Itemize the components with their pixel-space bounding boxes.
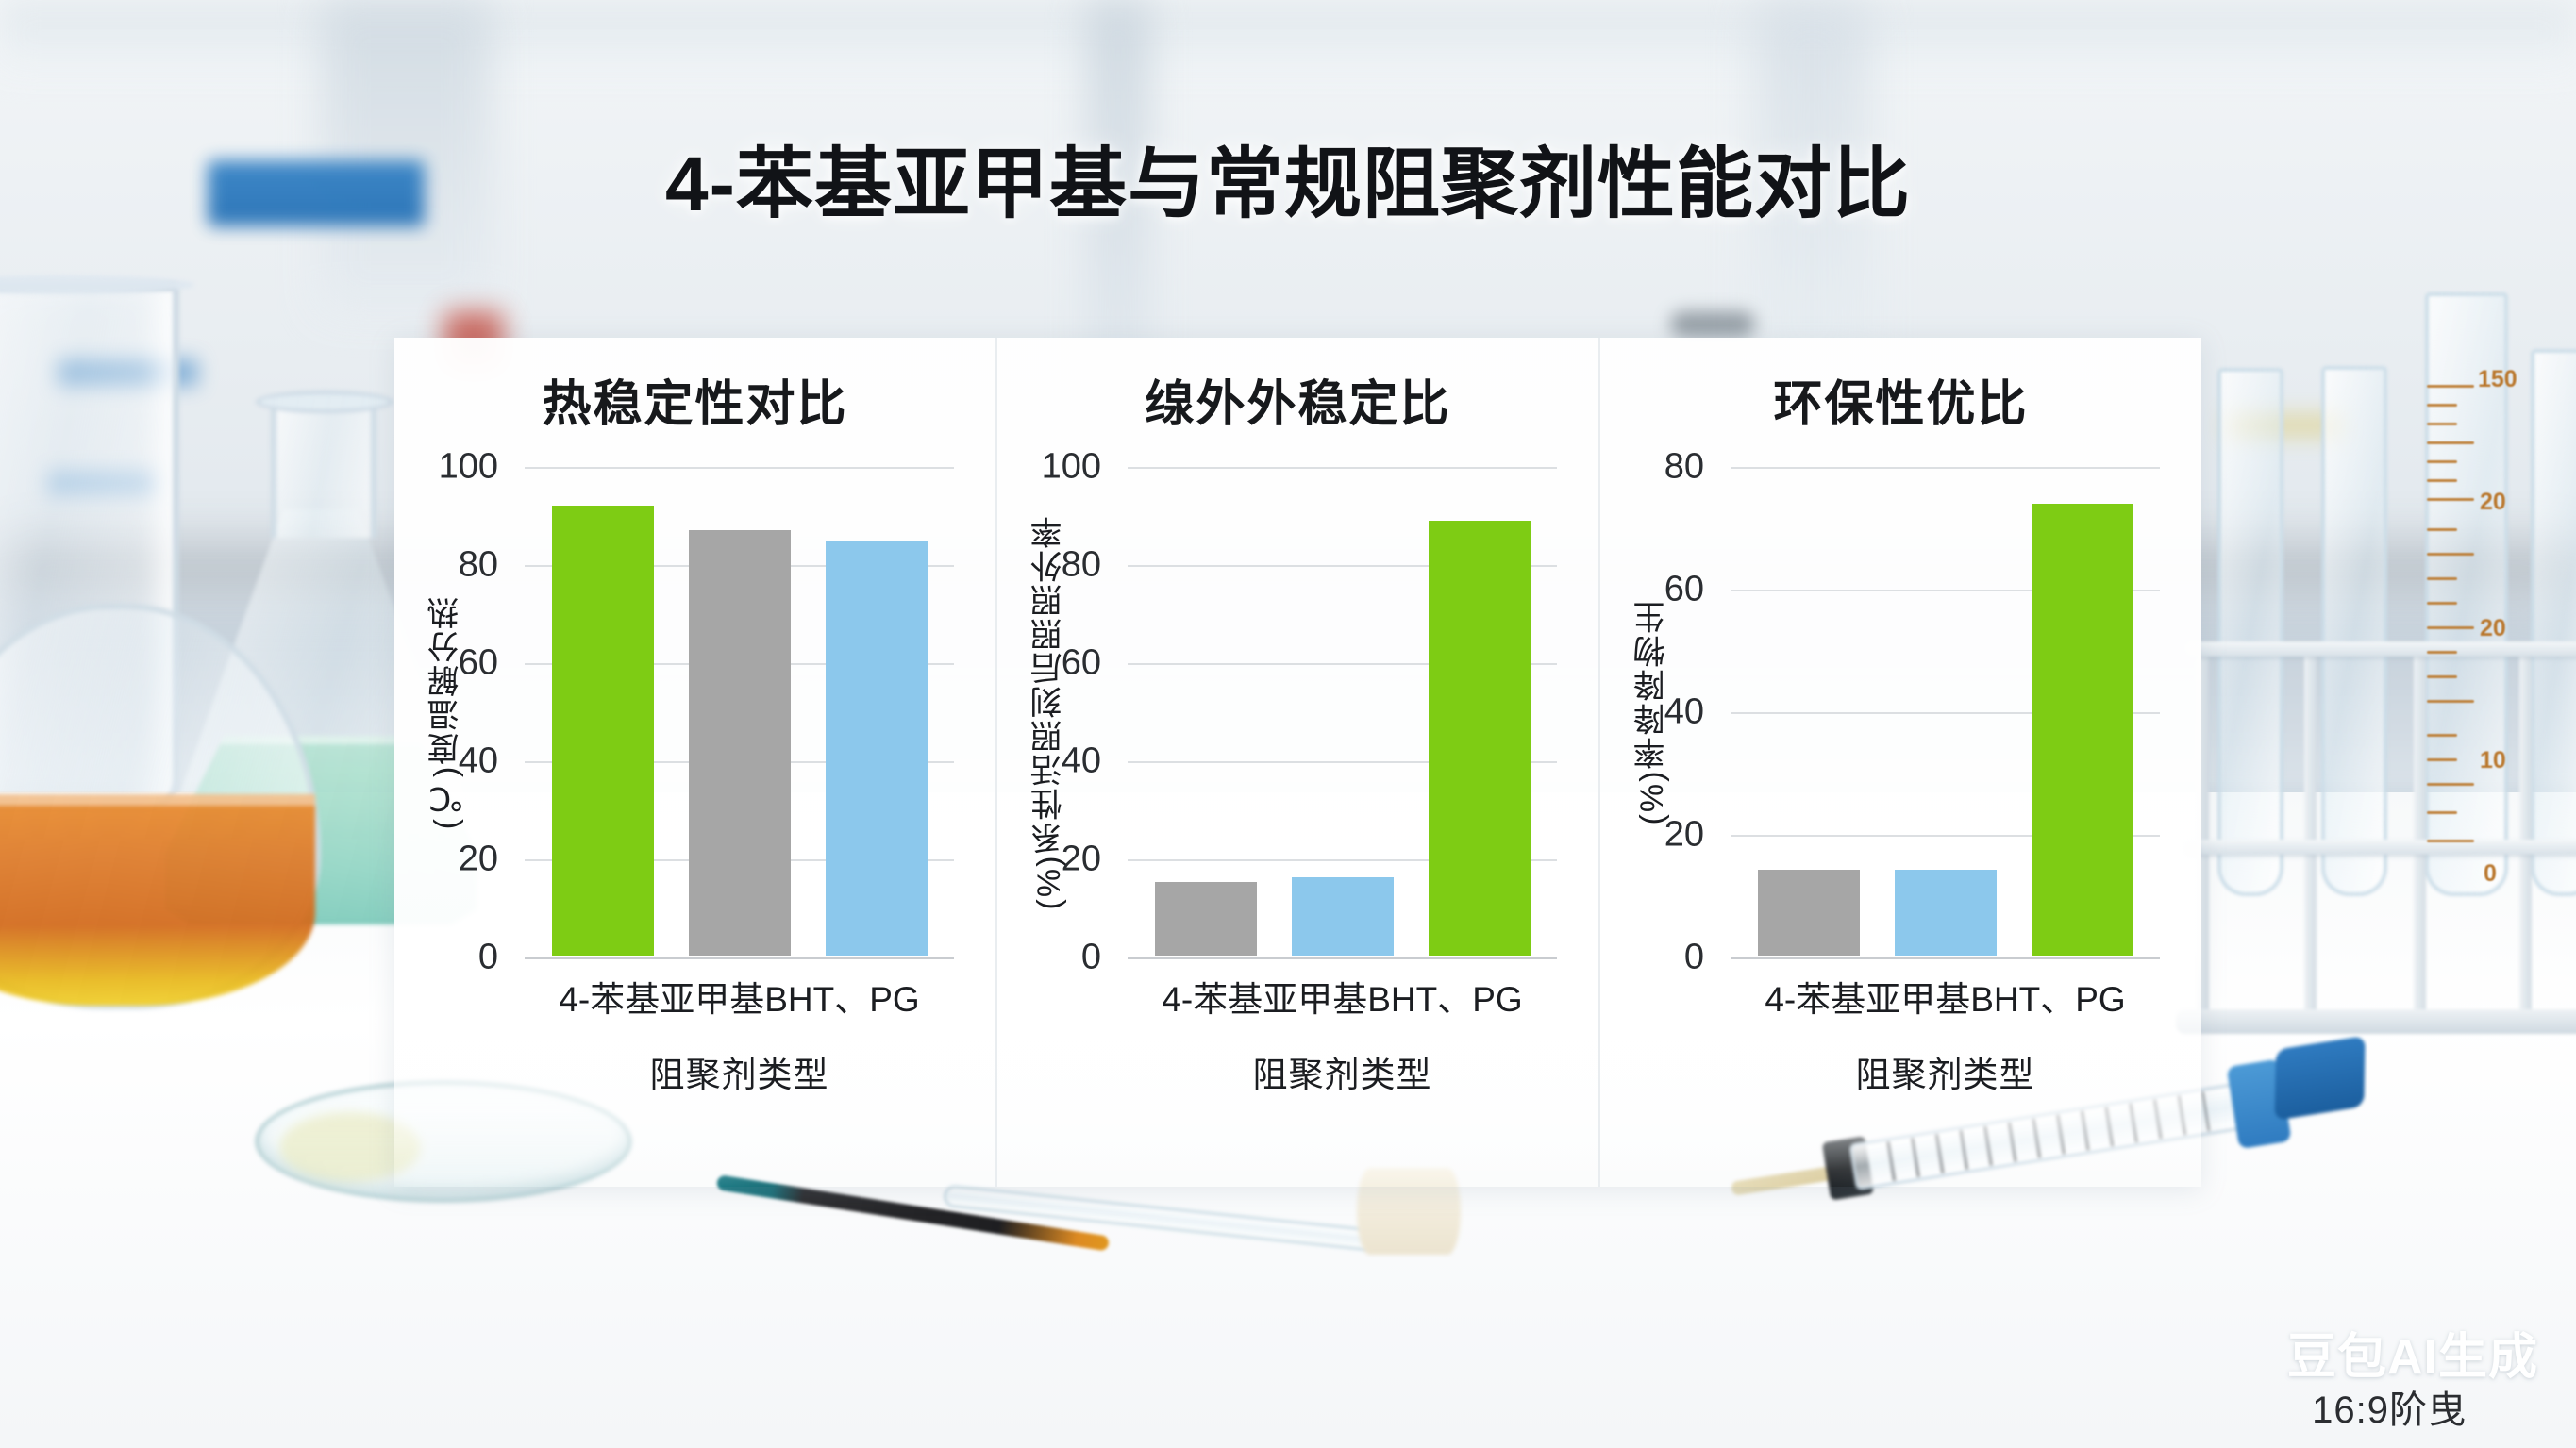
plot-area-2: (%)率降降物生 806040200 (1731, 467, 2160, 957)
plot-area-0: (℃)度温解分热 100806040200 (525, 467, 954, 957)
bar-BHT (689, 530, 791, 956)
cylinder-label-150: 150 (2478, 366, 2517, 393)
x-tick-label-1: 4-苯基亚甲基BHT、PG (1128, 971, 1557, 1022)
cylinder-label-20a: 20 (2480, 489, 2506, 516)
syringe-flange (2275, 1036, 2366, 1121)
rack-leg-2 (2304, 649, 2317, 1026)
chart-title-0: 热稳定性对比 (411, 364, 979, 435)
bar-PG (826, 541, 928, 956)
y-tick-label: 60 (1062, 643, 1116, 684)
bars-2 (1731, 467, 2160, 957)
y-tick-label: 100 (1042, 447, 1116, 488)
charts-card: 热稳定性对比 (℃)度温解分热 100806040200 4-苯基亚甲基BHT、… (394, 338, 2201, 1187)
y-tick-label: 0 (1081, 938, 1116, 978)
chart-panel-eco: 环保性优比 (%)率降降物生 806040200 4-苯基亚甲基BHT、PG 阻… (1598, 338, 2201, 1187)
chart-title-1: 缐外外稳定比 (1014, 364, 1581, 435)
y-tick-label: 60 (1664, 570, 1719, 610)
rack-leg-3 (2414, 649, 2426, 1026)
gridline (525, 957, 954, 959)
gridline (1731, 957, 2160, 959)
chart-panel-thermal: 热稳定性对比 (℃)度温解分热 100806040200 4-苯基亚甲基BHT、… (394, 338, 995, 1187)
y-tick-label: 20 (1062, 840, 1116, 880)
y-tick-label: 20 (1664, 815, 1719, 856)
y-tick-label: 0 (1684, 938, 1719, 978)
bar-4-苯基亚甲基 (552, 506, 654, 956)
flask-green-rim (256, 391, 393, 413)
test-tube-2 (2321, 366, 2387, 896)
plot-area-1: (%)系性活照刻后照照外率 100806040200 (1128, 467, 1557, 957)
round-flask-orange (0, 604, 321, 1009)
bar-PG (2032, 504, 2133, 956)
x-tick-label-2: 4-苯基亚甲基BHT、PG (1731, 971, 2160, 1022)
y-tick-label: 80 (459, 545, 513, 586)
page-title: 4-苯基亚甲基与常规阻聚剂性能对比 (0, 121, 2576, 233)
y-tick-label: 100 (439, 447, 513, 488)
y-axis-label-0: (℃)度温解分热 (423, 595, 469, 830)
y-tick-label: 80 (1664, 447, 1719, 488)
bars-1 (1128, 467, 1557, 957)
y-tick-label: 60 (459, 643, 513, 684)
bars-0 (525, 467, 954, 957)
y-tick-label: 40 (1664, 692, 1719, 733)
chart-title-2: 环保性优比 (1617, 364, 2184, 435)
chart-panel-uv: 缐外外稳定比 (%)系性活照刻后照照外率 100806040200 4-苯基亚甲… (995, 338, 1598, 1187)
y-tick-label: 40 (1062, 741, 1116, 782)
cylinder-label-20b: 20 (2480, 615, 2506, 642)
watermark-ratio: 16:9阶曳 (2312, 1379, 2467, 1434)
cylinder-label-0: 0 (2484, 860, 2497, 888)
flask-orange-liquid (0, 794, 315, 1006)
bar-PG (1429, 521, 1531, 956)
rack-base (2176, 1009, 2576, 1034)
test-tube-1 (2217, 368, 2283, 896)
y-tick-label: 0 (478, 938, 513, 978)
x-tick-label-0: 4-苯基亚甲基BHT、PG (525, 971, 954, 1022)
flask-green-neck (271, 396, 376, 538)
bar-4-苯基亚甲基 (1155, 882, 1257, 956)
equipment-knob (1670, 311, 1755, 338)
bar-BHT (1292, 877, 1394, 956)
x-axis-title-2: 阻聚剂类型 (1731, 1046, 2160, 1097)
bar-BHT (1895, 870, 1997, 956)
y-tick-label: 40 (459, 741, 513, 782)
gridline (1128, 957, 1557, 959)
bar-4-苯基亚甲基 (1758, 870, 1860, 956)
y-tick-label: 80 (1062, 545, 1116, 586)
watermark-brand: 豆包AI生成 (2287, 1317, 2538, 1388)
x-axis-title-0: 阻聚剂类型 (525, 1046, 954, 1097)
x-axis-title-1: 阻聚剂类型 (1128, 1046, 1557, 1097)
y-tick-label: 20 (459, 840, 513, 880)
cylinder-label-10: 10 (2480, 747, 2506, 774)
cylinder-scale: 150 20 20 10 0 (2427, 340, 2550, 924)
